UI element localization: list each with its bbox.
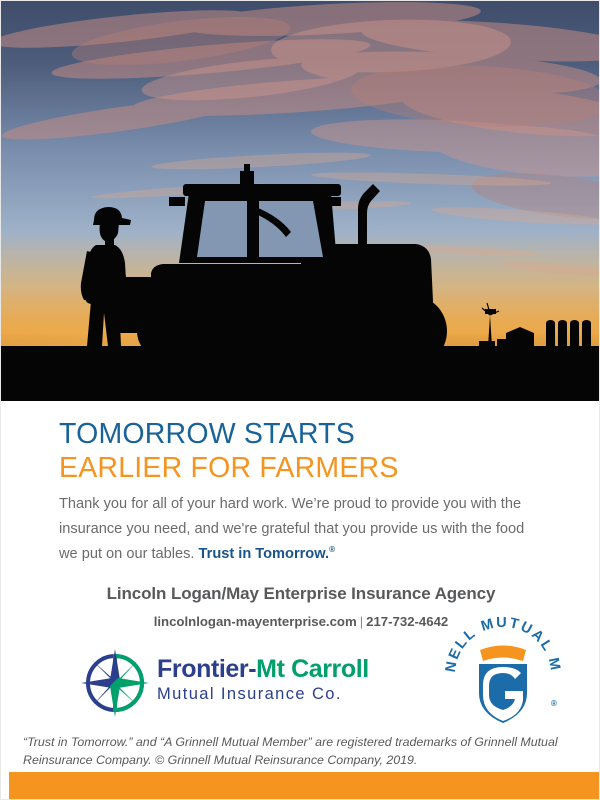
agency-phone-link[interactable]: 217-732-4642 (366, 614, 448, 629)
compass-rose-icon (79, 647, 151, 719)
agency-website-link[interactable]: lincolnlogan-mayenterprise.com (154, 614, 357, 629)
agency-name: Lincoln Logan/May Enterprise Insurance A… (1, 584, 600, 604)
frontier-logo-text: Frontier-Mt Carroll Mutual Insurance Co. (157, 655, 382, 705)
trademark-disclaimer: “Trust in Tomorrow.” and “A Grinnell Mut… (23, 733, 579, 769)
frontier-name-part2: Mt Carroll (256, 655, 369, 683)
grinnell-mutual-member-seal: A GRINNELL MUTUAL MEMBER ® (439, 605, 567, 733)
body-copy: Thank you for all of your hard work. We’… (59, 492, 539, 567)
content-panel: TOMORROW STARTS EARLIER FOR FARMERS Than… (1, 401, 600, 800)
contact-separator: | (357, 614, 366, 629)
frontier-company-name: Frontier-Mt Carroll (157, 655, 382, 683)
registered-trademark-icon: ® (329, 545, 335, 554)
frontier-subtitle: Mutual Insurance Co. (157, 683, 382, 705)
frontier-name-part1: Frontier- (157, 655, 256, 683)
seal-registered-mark: ® (551, 699, 557, 708)
seal-circular-text: A GRINNELL MUTUAL MEMBER (439, 605, 563, 673)
advertisement: TOMORROW STARTS EARLIER FOR FARMERS Than… (0, 0, 600, 800)
trust-in-tomorrow-tagline: Trust in Tomorrow.® (199, 546, 335, 562)
headline-line-2: EARLIER FOR FARMERS (59, 451, 559, 485)
footer-accent-bar (9, 772, 600, 800)
headline-line-1: TOMORROW STARTS (59, 417, 559, 451)
headline: TOMORROW STARTS EARLIER FOR FARMERS (59, 417, 559, 485)
hero-photo (1, 1, 600, 401)
frontier-mt-carroll-logo: Frontier-Mt Carroll Mutual Insurance Co. (79, 647, 379, 719)
tagline-text: Trust in Tomorrow. (199, 546, 330, 562)
